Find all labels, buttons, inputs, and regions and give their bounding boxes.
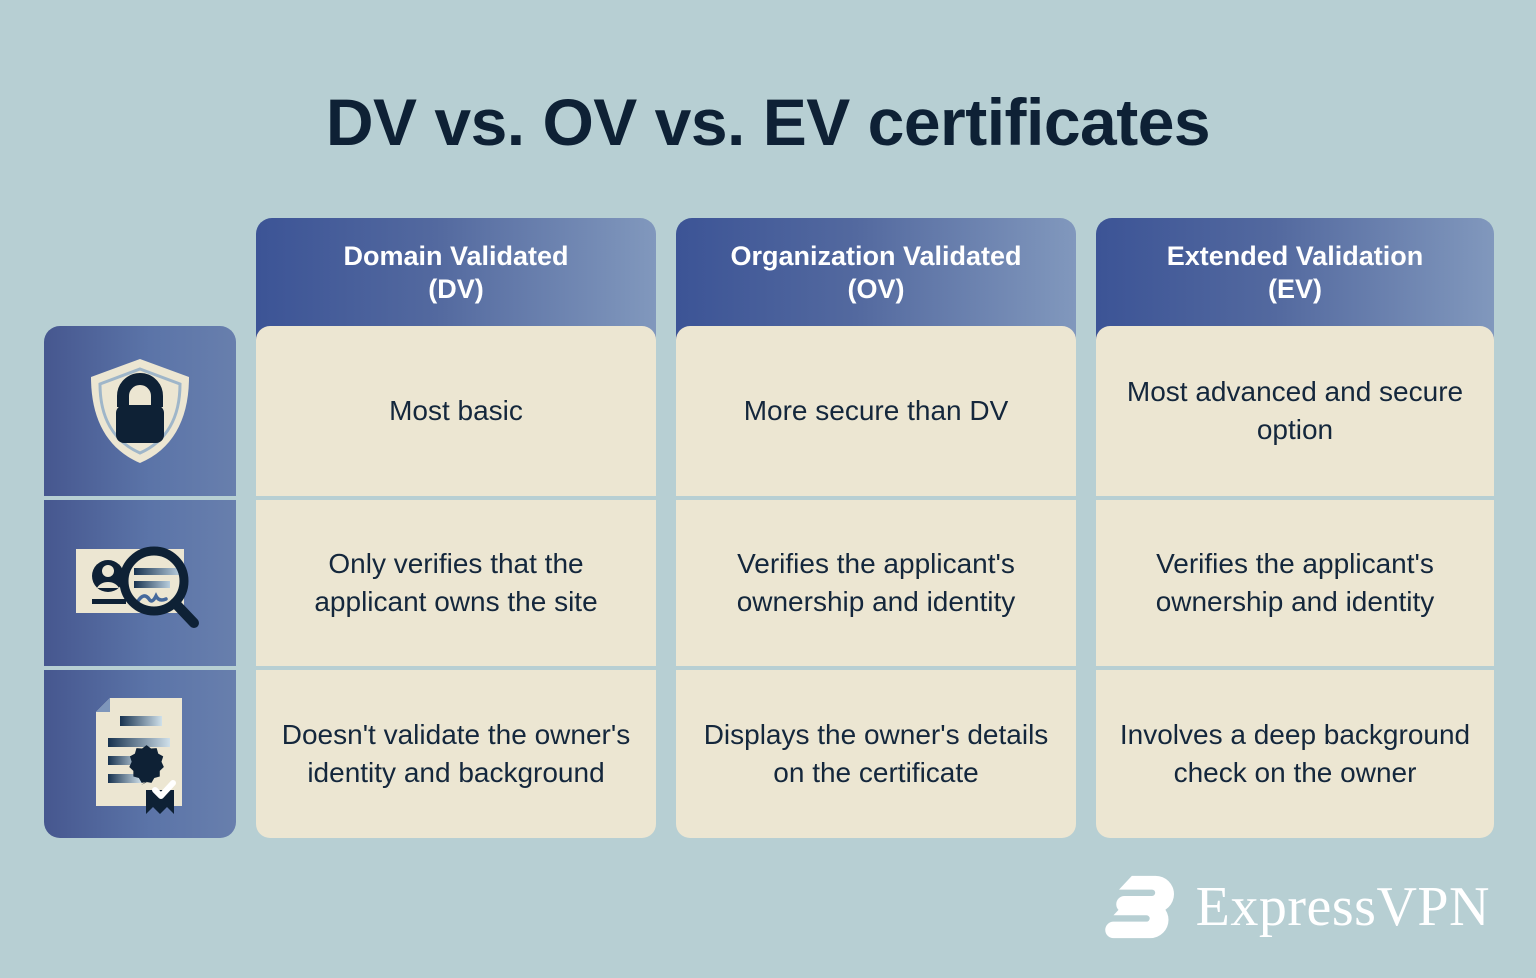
row-icon-security bbox=[44, 326, 236, 496]
infographic-page: DV vs. OV vs. EV certificates Domain Val… bbox=[0, 0, 1536, 978]
certificate-seal-icon bbox=[84, 694, 196, 814]
row-icon-verification bbox=[44, 500, 236, 666]
table-cell-dv-row2: Only verifies that the applicant owns th… bbox=[256, 500, 656, 666]
table-cell-dv-row3: Doesn't validate the owner's identity an… bbox=[256, 670, 656, 838]
table-cell-dv-row1: Most basic bbox=[256, 326, 656, 496]
table-cell-ev-row1: Most advanced and secure option bbox=[1096, 326, 1494, 496]
column-header-ev-line1: Extended Validation bbox=[1167, 240, 1424, 273]
table-cell-ov-row1: More secure than DV bbox=[676, 326, 1076, 496]
id-card-magnifier-icon bbox=[70, 531, 210, 635]
column-header-dv-line2: (DV) bbox=[343, 273, 568, 306]
page-title: DV vs. OV vs. EV certificates bbox=[0, 88, 1536, 157]
expressvpn-logo: ExpressVPN bbox=[1104, 874, 1490, 940]
column-header-ov-line1: Organization Validated bbox=[730, 240, 1021, 273]
column-header-dv-line1: Domain Validated bbox=[343, 240, 568, 273]
table-cell-ov-row2: Verifies the applicant's ownership and i… bbox=[676, 500, 1076, 666]
column-header-ev-line2: (EV) bbox=[1167, 273, 1424, 306]
comparison-table: Domain Validated (DV) Organization Valid… bbox=[44, 218, 1494, 834]
table-cell-ov-row3: Displays the owner's details on the cert… bbox=[676, 670, 1076, 838]
row-icon-certificate bbox=[44, 670, 236, 838]
column-header-ov-line2: (OV) bbox=[730, 273, 1021, 306]
table-cell-ev-row2: Verifies the applicant's ownership and i… bbox=[1096, 500, 1494, 666]
table-cell-ev-row3: Involves a deep background check on the … bbox=[1096, 670, 1494, 838]
expressvpn-wordmark: ExpressVPN bbox=[1196, 879, 1490, 935]
expressvpn-e-mark-icon bbox=[1104, 874, 1178, 940]
shield-lock-icon bbox=[85, 355, 195, 467]
